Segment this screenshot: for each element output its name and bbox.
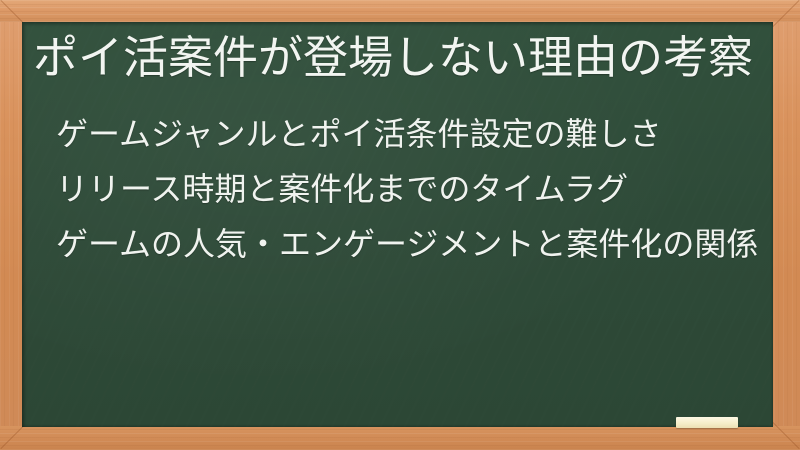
chalkboard-slide: ポイ活案件が登場しない理由の考察 ゲームジャンルとポイ活条件設定の難しさ リリー… xyxy=(0,0,800,450)
list-item: ゲームの人気・エンゲージメントと案件化の関係 xyxy=(56,217,762,272)
list-item: リリース時期と案件化までのタイムラグ xyxy=(56,162,762,217)
frame-rail-top xyxy=(0,0,800,22)
list-item: ゲームジャンルとポイ活条件設定の難しさ xyxy=(56,107,762,162)
chalk-stick xyxy=(676,417,738,428)
slide-topic-list: ゲームジャンルとポイ活条件設定の難しさ リリース時期と案件化までのタイムラグ ゲ… xyxy=(56,107,762,272)
frame-rail-bottom xyxy=(0,426,800,450)
blackboard-surface: ポイ活案件が登場しない理由の考察 ゲームジャンルとポイ活条件設定の難しさ リリー… xyxy=(22,22,773,427)
slide-title: ポイ活案件が登場しない理由の考察 xyxy=(33,30,763,86)
